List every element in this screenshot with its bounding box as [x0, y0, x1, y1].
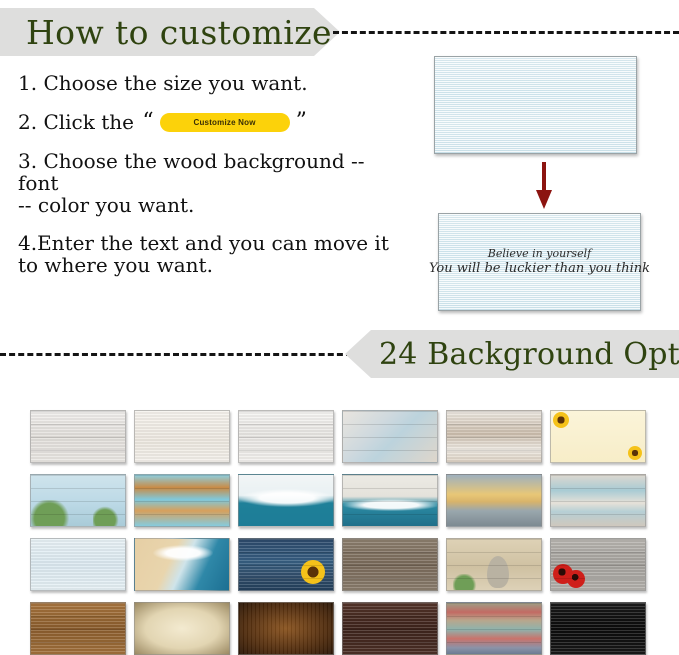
thumb-teal-white-surf-splash[interactable]	[238, 474, 334, 527]
thumb-beach-shoreline-waves[interactable]	[134, 538, 230, 591]
thumb-teal-orange-rustic-planks[interactable]	[134, 474, 230, 527]
foam-decor	[239, 489, 334, 507]
thumb-whitewash-distressed-planks[interactable]	[238, 410, 334, 463]
buddha-figure	[487, 556, 509, 588]
dashed-connector-top	[333, 31, 679, 34]
thumb-peeling-paint-driftwood[interactable]	[446, 410, 542, 463]
sunflower-icon	[553, 412, 569, 428]
coral-decor	[93, 506, 123, 526]
open-quote: “	[142, 110, 153, 134]
sunflower-icon	[628, 446, 642, 460]
background-options-banner: 24 Background Options	[345, 330, 679, 378]
thumb-pastel-striped-planks[interactable]	[446, 602, 542, 655]
thumb-brown-barnwood[interactable]	[342, 538, 438, 591]
thumb-golden-sunset-seascape[interactable]	[446, 474, 542, 527]
customize-now-button[interactable]: Customize Now	[160, 113, 290, 132]
coral-decor	[31, 500, 77, 526]
blank-sign-preview[interactable]	[434, 56, 637, 154]
thumb-vintage-parchment[interactable]	[134, 602, 230, 655]
how-to-customize-banner: How to customize	[0, 8, 340, 56]
sunflower-icon	[301, 560, 325, 584]
thumb-rustic-light-brown-planks[interactable]	[30, 602, 126, 655]
thumb-multicolor-reclaimed-planks[interactable]	[342, 410, 438, 463]
thumb-white-plank-teal-wave[interactable]	[342, 474, 438, 527]
poppy-icon	[567, 570, 585, 588]
stones-decor	[453, 574, 481, 590]
thumb-zen-buddha-scene[interactable]	[446, 538, 542, 591]
text-sign-preview[interactable]: Believe in yourself You will be luckier …	[438, 213, 641, 311]
arrow-head	[536, 190, 552, 209]
thumb-weathered-teal-gray-planks[interactable]	[550, 474, 646, 527]
thumb-dark-brown-vignette-wood[interactable]	[238, 602, 334, 655]
step-2: 2. Click the “ Customize Now ”	[18, 110, 393, 134]
thumb-black-chalkboard-wood[interactable]	[550, 602, 646, 655]
step-2-prefix: 2. Click the	[18, 111, 140, 133]
foam-decor	[343, 499, 438, 511]
close-quote: ”	[296, 110, 307, 134]
sign-line-2: You will be luckier than you think	[429, 261, 650, 277]
poppy-icon	[553, 564, 573, 584]
thumb-cream-weathered-wood[interactable]	[134, 410, 230, 463]
step-1: 1. Choose the size you want.	[18, 72, 393, 94]
thumb-pale-blue-wood[interactable]	[30, 538, 126, 591]
arrow-shaft	[542, 162, 546, 192]
down-arrow-icon	[536, 162, 552, 209]
dashed-connector-bottom	[0, 353, 352, 356]
thumb-white-washed-planks[interactable]	[30, 410, 126, 463]
thumb-coral-reef-seascape[interactable]	[30, 474, 126, 527]
background-thumbnail-grid	[30, 410, 650, 655]
page-title: How to customize	[26, 13, 332, 52]
step-3: 3. Choose the wood background -- font --…	[18, 150, 393, 216]
sign-line-1: Believe in yourself	[488, 247, 591, 261]
foam-decor	[153, 545, 213, 561]
thumb-navy-wood-sunflower[interactable]	[238, 538, 334, 591]
background-options-title: 24 Background Options	[379, 337, 679, 372]
thumb-cream-sunflower-border[interactable]	[550, 410, 646, 463]
thumb-dark-walnut-planks[interactable]	[342, 602, 438, 655]
step-4: 4.Enter the text and you can move it to …	[18, 232, 393, 276]
instruction-list: 1. Choose the size you want. 2. Click th…	[18, 72, 393, 292]
thumb-gray-wood-red-poppies[interactable]	[550, 538, 646, 591]
